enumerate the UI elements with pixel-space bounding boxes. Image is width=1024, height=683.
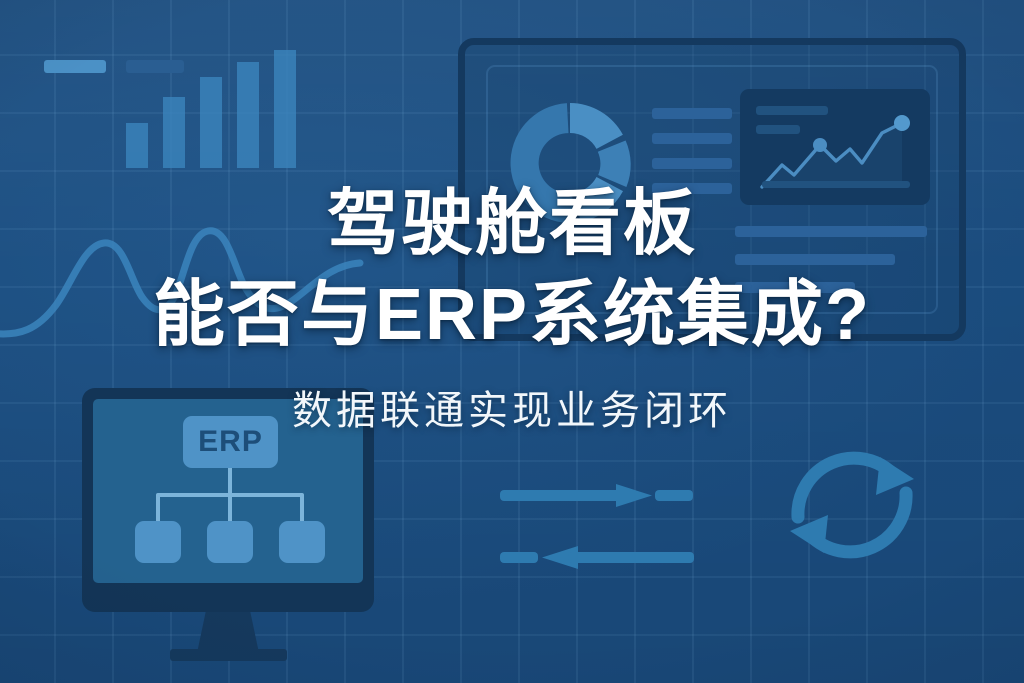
bar-3 bbox=[200, 77, 222, 168]
page-title-line-2: 能否与ERP系统集成? bbox=[0, 273, 1024, 358]
monitor-stand-base bbox=[170, 649, 287, 661]
text-line bbox=[652, 158, 732, 169]
bar-4 bbox=[237, 62, 259, 168]
bar-1 bbox=[126, 123, 148, 168]
text-line bbox=[652, 108, 732, 119]
erp-child-node-3 bbox=[279, 521, 325, 563]
hero-text-block: 驾驶舱看板 能否与ERP系统集成? 数据联通实现业务闭环 bbox=[0, 182, 1024, 436]
dashboard-tab-active[interactable] bbox=[44, 60, 106, 73]
bar-5 bbox=[274, 50, 296, 168]
page-subtitle: 数据联通实现业务闭环 bbox=[0, 378, 1024, 436]
poster-canvas: ERP 驾驶舱看板 能否与ERP系统集成? 数据联 bbox=[0, 0, 1024, 683]
monitor-stand-neck bbox=[197, 612, 259, 653]
dashboard-tabbar bbox=[44, 60, 184, 73]
page-title-line-1: 驾驶舱看板 bbox=[0, 182, 1024, 267]
bidirectional-data-flow-icon bbox=[500, 440, 710, 570]
erp-child-node-1 bbox=[135, 521, 181, 563]
bar-2 bbox=[163, 97, 185, 168]
erp-child-node-2 bbox=[207, 521, 253, 563]
text-line bbox=[652, 133, 732, 144]
circular-sync-icon bbox=[772, 425, 932, 585]
dashboard-tab-idle[interactable] bbox=[126, 60, 184, 73]
